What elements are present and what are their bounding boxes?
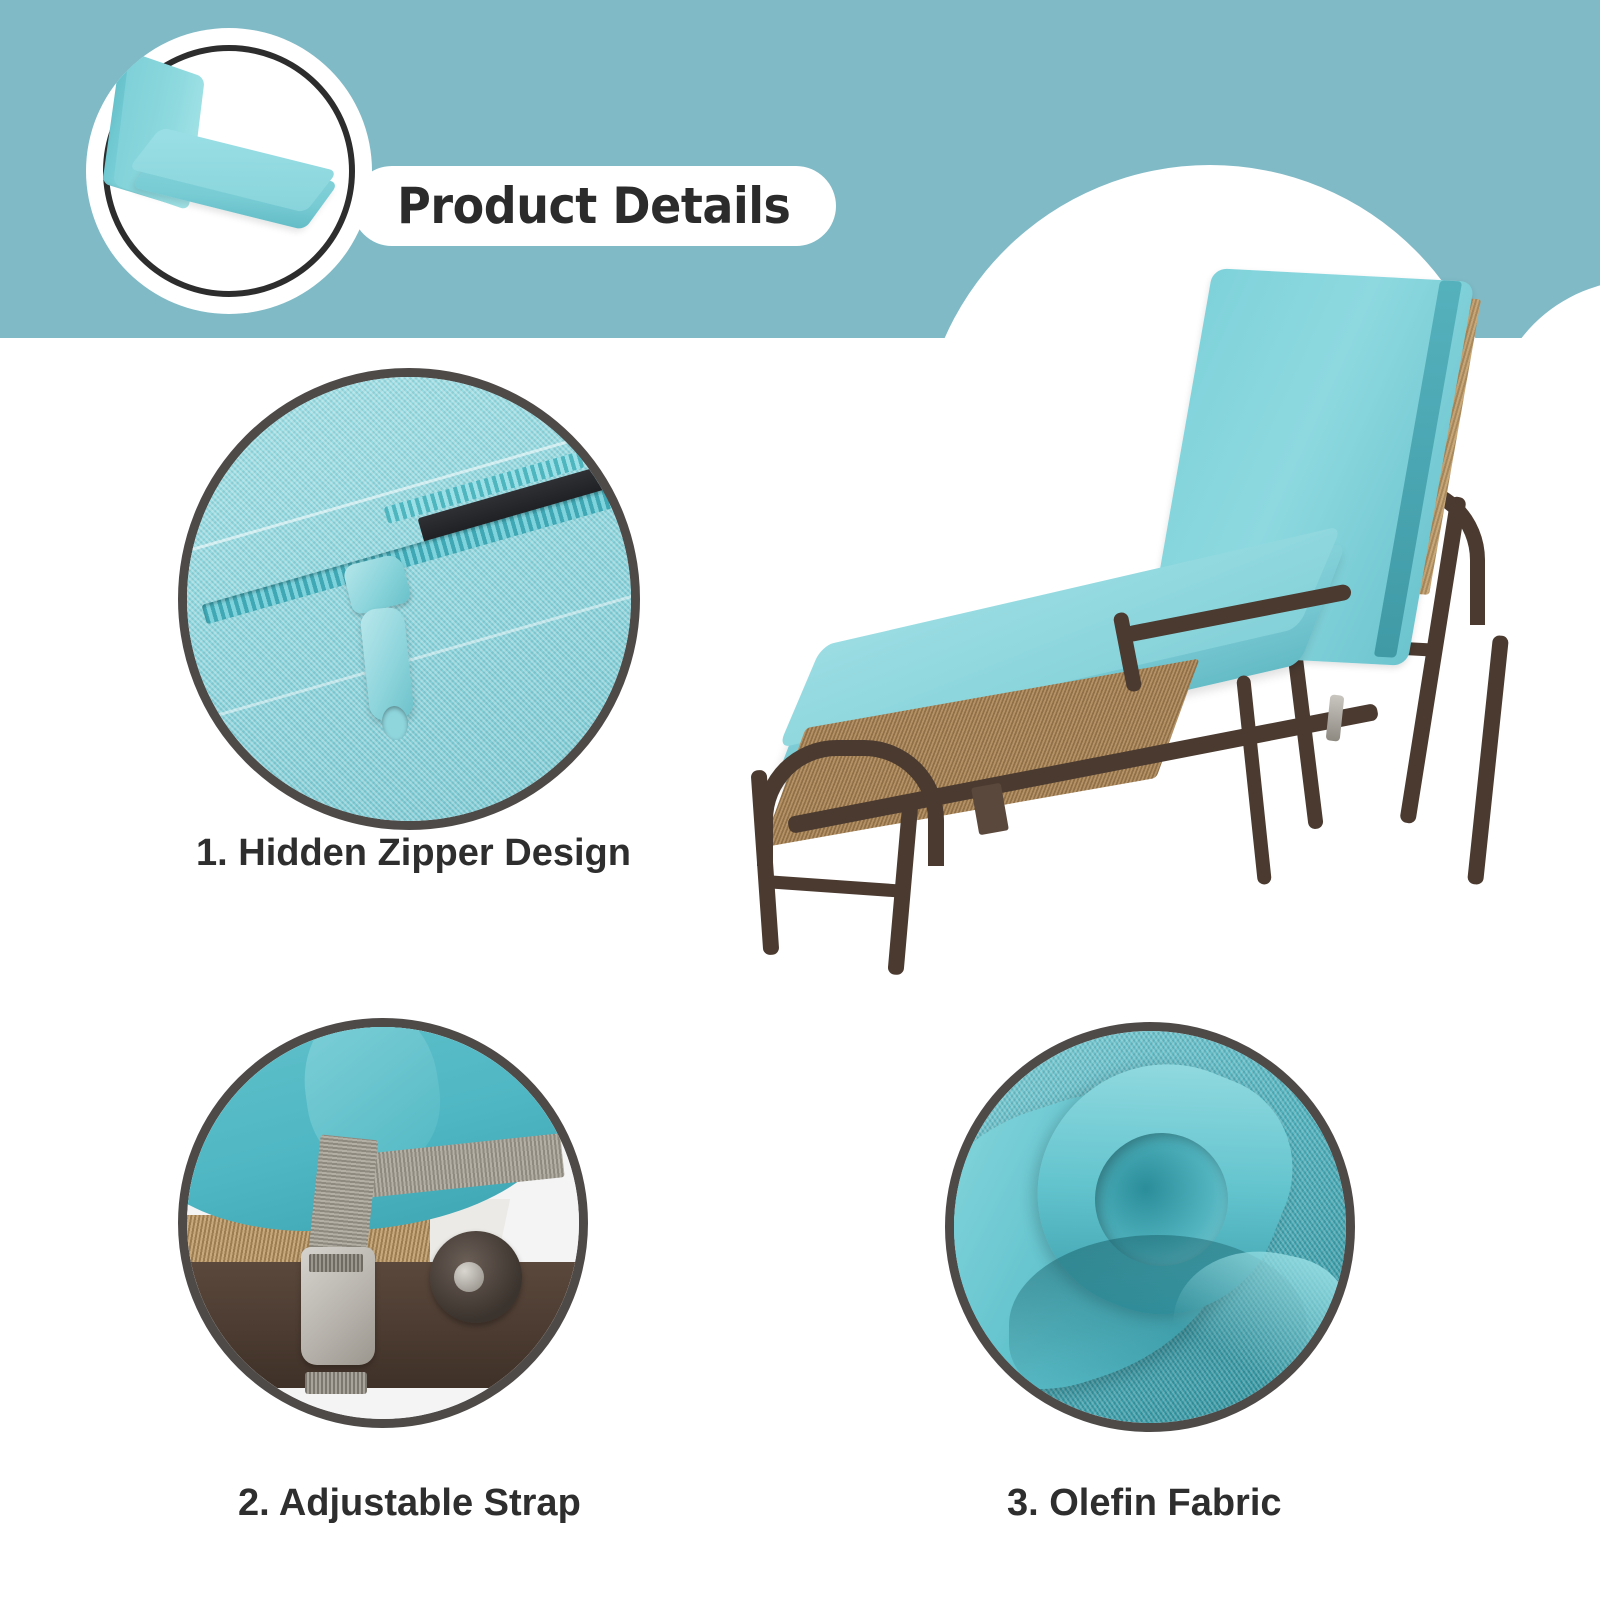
page-title-badge: Product Details: [352, 166, 836, 246]
detail-image-adjustable-strap: [178, 1018, 588, 1428]
cushion-zipper-pull: [1326, 694, 1345, 741]
frame-front-arch: [757, 740, 944, 866]
frame-front-crossbar: [763, 875, 909, 898]
product-logo-badge: [86, 28, 372, 314]
detail-caption-1: 1. Hidden Zipper Design: [196, 832, 631, 875]
detail-caption-2: 2. Adjustable Strap: [238, 1482, 581, 1525]
chaise-lounge-chair: [735, 240, 1600, 850]
chair-wheel-hub: [454, 1262, 484, 1292]
folded-cushion-icon: [86, 28, 372, 314]
detail-caption-3: 3. Olefin Fabric: [1007, 1482, 1282, 1525]
detail-image-olefin-fabric: [945, 1022, 1355, 1432]
strap-buckle-slot: [309, 1254, 363, 1272]
frame-back-leg-near: [1236, 675, 1272, 885]
strap-buckle-tail-webbing: [305, 1372, 367, 1394]
detail-image-hidden-zipper: [178, 368, 640, 830]
strap-chair-frame-bar: [178, 1262, 588, 1387]
frame-back-leg-far: [1467, 635, 1509, 885]
page-title: Product Details: [397, 177, 790, 235]
